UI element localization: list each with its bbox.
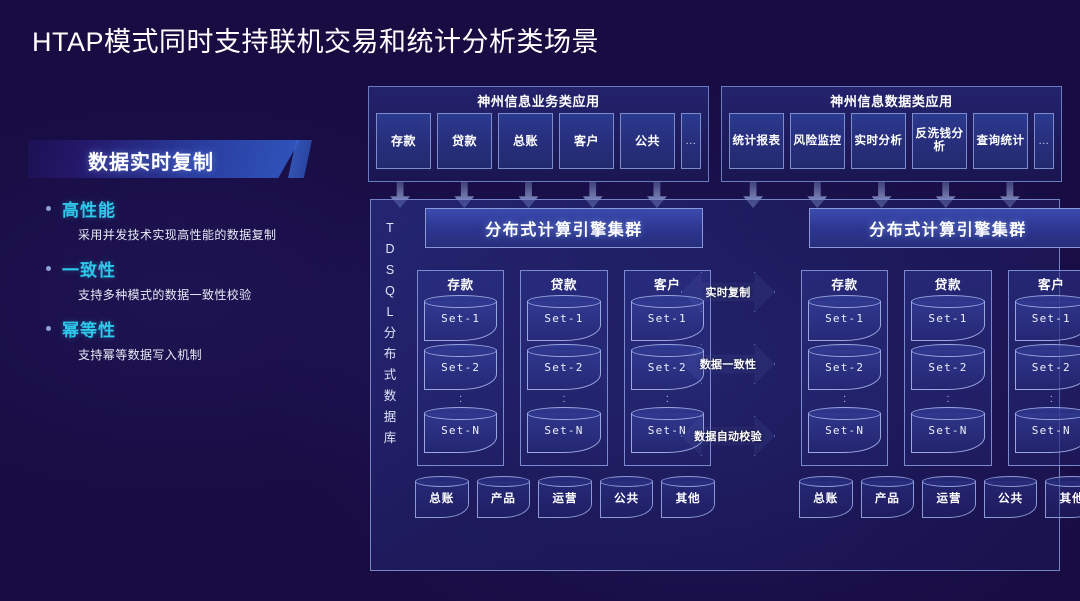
app-cell[interactable]: 公共: [620, 113, 675, 169]
mini-cylinder[interactable]: 总账: [799, 476, 853, 518]
app-cell[interactable]: 反洗钱分析: [912, 113, 967, 169]
application-group-title: 神州信息业务类应用: [376, 91, 701, 113]
app-cell[interactable]: 查询统计: [973, 113, 1028, 169]
cylinder-top: [424, 407, 497, 420]
set-column-title: 客户: [1038, 274, 1065, 293]
cylinder-top: [527, 407, 600, 420]
set-label: Set-2: [911, 361, 984, 374]
set-label: Set-1: [424, 312, 497, 325]
set-column-title: 贷款: [935, 274, 962, 293]
set-column: 客户 Set-1 Set-2 ·· Set-N: [1008, 270, 1080, 466]
cylinder-top: [911, 344, 984, 357]
set-column-title: 存款: [831, 274, 858, 293]
cylinder-top: [1015, 407, 1080, 420]
mini-cylinder-label: 总账: [799, 490, 853, 506]
tdsql-vertical-label: TDSQL分布式数据库: [379, 218, 401, 449]
app-cell[interactable]: 总账: [498, 113, 553, 169]
set-cylinder[interactable]: Set-2: [1015, 344, 1080, 390]
bullet-title: 高性能: [62, 196, 116, 221]
sync-arrow-data-consistency: 数据一致性: [681, 344, 775, 384]
tdsql-panel: TDSQL分布式数据库 分布式计算引擎集群 存款 Set-1 Set-2 ·· …: [370, 199, 1060, 571]
list-item: 幂等性 支持幂等数据写入机制: [46, 316, 350, 363]
set-column-title: 客户: [654, 274, 681, 293]
compute-engine-cluster[interactable]: 分布式计算引擎集群: [809, 208, 1080, 248]
cylinder-top: [1015, 344, 1080, 357]
cylinder-top: [527, 295, 600, 308]
app-cell[interactable]: 实时分析: [851, 113, 906, 169]
bullet-title: 一致性: [62, 256, 116, 281]
application-group-data: 神州信息数据类应用 统计报表 风险监控 实时分析 反洗钱分析 查询统计 ...: [721, 86, 1062, 182]
set-cylinder[interactable]: Set-1: [808, 295, 881, 341]
mini-cylinder-label: 公共: [600, 490, 654, 506]
cylinder-top: [911, 407, 984, 420]
sync-arrow-label: 实时复制: [705, 284, 750, 300]
vertical-ellipsis-icon: ··: [562, 394, 565, 404]
tdsql-half-right: 分布式计算引擎集群 存款 Set-1 Set-2 ·· Set-N 贷款 Set…: [797, 208, 1080, 564]
bullet-description: 支持幂等数据写入机制: [78, 346, 350, 363]
cylinder-top: [808, 407, 881, 420]
cylinder-top: [477, 476, 531, 487]
set-columns: 存款 Set-1 Set-2 ·· Set-N 贷款 Set-1 Set-2 ·…: [797, 270, 1080, 466]
set-cylinder[interactable]: Set-1: [424, 295, 497, 341]
vertical-ellipsis-icon: ··: [666, 394, 669, 404]
mini-cylinder-label: 其他: [661, 490, 715, 506]
set-cylinder[interactable]: Set-N: [911, 407, 984, 453]
set-column: 贷款 Set-1 Set-2 ·· Set-N: [904, 270, 991, 466]
cylinder-top: [424, 295, 497, 308]
set-cylinder[interactable]: Set-N: [1015, 407, 1080, 453]
set-label: Set-1: [1015, 312, 1080, 325]
bullet-description: 采用并发技术实现高性能的数据复制: [78, 226, 350, 243]
set-column: 贷款 Set-1 Set-2 ·· Set-N: [520, 270, 607, 466]
vertical-ellipsis-icon: ··: [843, 394, 846, 404]
sync-arrow-auto-verification: 数据自动校验: [681, 416, 775, 456]
app-cell[interactable]: 风险监控: [790, 113, 845, 169]
mini-cylinder[interactable]: 公共: [600, 476, 654, 518]
sync-arrows: 实时复制 数据一致性 数据自动校验: [681, 272, 785, 488]
set-cylinder[interactable]: Set-1: [527, 295, 600, 341]
set-cylinder[interactable]: Set-1: [1015, 295, 1080, 341]
cylinder-top: [922, 476, 976, 487]
cylinder-top: [527, 344, 600, 357]
set-cylinder[interactable]: Set-N: [424, 407, 497, 453]
application-cells: 存款 贷款 总账 客户 公共 ...: [376, 113, 701, 169]
mini-cylinder-label: 产品: [477, 490, 531, 506]
application-group-title: 神州信息数据类应用: [729, 91, 1054, 113]
set-column: 存款 Set-1 Set-2 ·· Set-N: [801, 270, 888, 466]
bullet-title: 幂等性: [62, 316, 116, 341]
cylinder-top: [861, 476, 915, 487]
section-banner-label: 数据实时复制: [88, 146, 214, 175]
page-title: HTAP模式同时支持联机交易和统计分析类场景: [32, 20, 599, 59]
sync-arrow-label: 数据一致性: [700, 356, 757, 372]
bottom-cylinder-row: 总账 产品 运营 公共 其他: [799, 476, 1080, 518]
set-label: Set-1: [808, 312, 881, 325]
set-label: Set-1: [911, 312, 984, 325]
set-label: Set-N: [424, 424, 497, 437]
set-cylinder[interactable]: Set-2: [424, 344, 497, 390]
architecture-diagram: 神州信息业务类应用 存款 贷款 总账 客户 公共 ... 神州信息数据类应用 统…: [368, 86, 1062, 576]
cylinder-top: [808, 344, 881, 357]
application-cells: 统计报表 风险监控 实时分析 反洗钱分析 查询统计 ...: [729, 113, 1054, 169]
cylinder-top: [984, 476, 1038, 487]
list-item: 一致性 支持多种模式的数据一致性校验: [46, 256, 350, 303]
sync-arrow-label: 数据自动校验: [694, 428, 762, 444]
left-panel: 数据实时复制 高性能 采用并发技术实现高性能的数据复制 一致性 支持多种模式的数…: [0, 140, 350, 376]
set-cylinder[interactable]: Set-2: [808, 344, 881, 390]
cylinder-top: [600, 476, 654, 487]
set-column: 存款 Set-1 Set-2 ·· Set-N: [417, 270, 504, 466]
set-label: Set-N: [1015, 424, 1080, 437]
bullet-dot-icon: [46, 326, 51, 331]
mini-cylinder[interactable]: 总账: [415, 476, 469, 518]
mini-cylinder[interactable]: 运营: [538, 476, 592, 518]
mini-cylinder[interactable]: 运营: [922, 476, 976, 518]
set-column-title: 贷款: [551, 274, 578, 293]
cylinder-top: [424, 344, 497, 357]
cylinder-top: [415, 476, 469, 487]
compute-engine-cluster[interactable]: 分布式计算引擎集群: [425, 208, 703, 248]
cylinder-top: [1015, 295, 1080, 308]
set-label: Set-N: [527, 424, 600, 437]
app-cell-more[interactable]: ...: [681, 113, 701, 169]
mini-cylinder[interactable]: 公共: [984, 476, 1038, 518]
set-label: Set-1: [527, 312, 600, 325]
bullet-head: 一致性: [46, 256, 350, 281]
section-banner: 数据实时复制: [28, 140, 300, 178]
app-cell[interactable]: 存款: [376, 113, 431, 169]
set-cylinder[interactable]: Set-2: [527, 344, 600, 390]
app-cell[interactable]: 统计报表: [729, 113, 784, 169]
mini-cylinder-label: 运营: [538, 490, 592, 506]
set-columns: 存款 Set-1 Set-2 ·· Set-N 贷款 Set-1 Set-2 ·…: [413, 270, 715, 466]
app-cell[interactable]: 客户: [559, 113, 614, 169]
set-label: Set-2: [1015, 361, 1080, 374]
vertical-ellipsis-icon: ··: [459, 394, 462, 404]
set-cylinder[interactable]: Set-2: [911, 344, 984, 390]
application-groups-row: 神州信息业务类应用 存款 贷款 总账 客户 公共 ... 神州信息数据类应用 统…: [368, 86, 1062, 182]
mini-cylinder[interactable]: 其他: [1045, 476, 1080, 518]
cylinder-top: [538, 476, 592, 487]
set-cylinder[interactable]: Set-N: [808, 407, 881, 453]
set-label: Set-2: [424, 361, 497, 374]
mini-cylinder-label: 其他: [1045, 490, 1080, 506]
cylinder-top: [799, 476, 853, 487]
bottom-cylinder-row: 总账 产品 运营 公共 其他: [415, 476, 715, 518]
bullet-head: 高性能: [46, 196, 350, 221]
bullet-dot-icon: [46, 206, 51, 211]
set-label: Set-2: [527, 361, 600, 374]
mini-cylinder-label: 总账: [415, 490, 469, 506]
sync-arrow-realtime-replication: 实时复制: [681, 272, 775, 312]
set-label: Set-2: [808, 361, 881, 374]
cylinder-top: [808, 295, 881, 308]
set-label: Set-N: [808, 424, 881, 437]
cylinder-top: [911, 295, 984, 308]
app-cell[interactable]: 贷款: [437, 113, 492, 169]
set-cylinder[interactable]: Set-1: [911, 295, 984, 341]
bullet-head: 幂等性: [46, 316, 350, 341]
mini-cylinder-label: 产品: [861, 490, 915, 506]
tdsql-half-left: 分布式计算引擎集群 存款 Set-1 Set-2 ·· Set-N 贷款 Set…: [413, 208, 715, 564]
mini-cylinder[interactable]: 产品: [477, 476, 531, 518]
feature-bullet-list: 高性能 采用并发技术实现高性能的数据复制 一致性 支持多种模式的数据一致性校验 …: [0, 196, 350, 363]
bullet-description: 支持多种模式的数据一致性校验: [78, 286, 350, 303]
vertical-ellipsis-icon: ··: [946, 394, 949, 404]
set-cylinder[interactable]: Set-N: [527, 407, 600, 453]
set-label: Set-N: [911, 424, 984, 437]
bullet-dot-icon: [46, 266, 51, 271]
list-item: 高性能 采用并发技术实现高性能的数据复制: [46, 196, 350, 243]
mini-cylinder-label: 公共: [984, 490, 1038, 506]
application-group-business: 神州信息业务类应用 存款 贷款 总账 客户 公共 ...: [368, 86, 709, 182]
app-cell-more[interactable]: ...: [1034, 113, 1054, 169]
vertical-ellipsis-icon: ··: [1050, 394, 1053, 404]
mini-cylinder-label: 运营: [922, 490, 976, 506]
set-column-title: 存款: [447, 274, 474, 293]
mini-cylinder[interactable]: 产品: [861, 476, 915, 518]
